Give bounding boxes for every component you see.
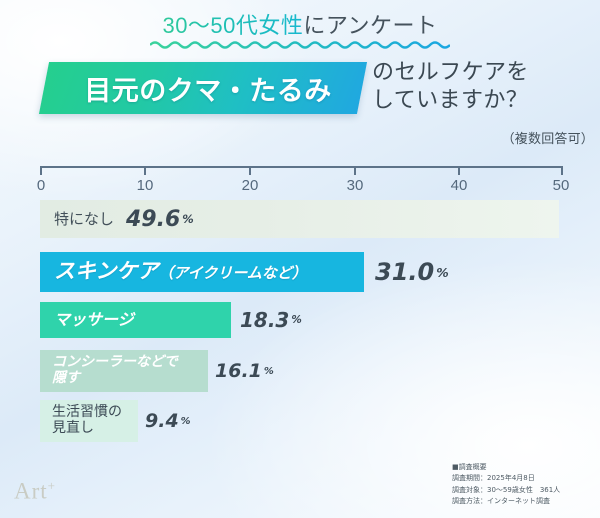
bar-fill: スキンケア（アイクリームなど）	[40, 252, 364, 292]
title-banner-text: 目元のクマ・たるみ	[58, 62, 358, 114]
infographic-canvas: 30〜50代女性にアンケート 目元のクマ・たるみ のセルフケアを していますか？…	[0, 0, 600, 518]
bar-value-number: 49.6	[126, 207, 180, 232]
bar-fill: 生活習慣の 見直し	[40, 400, 138, 442]
bar-row: コンシーラーなどで 隠す 16.1 %	[0, 350, 600, 400]
bar-fill: コンシーラーなどで 隠す	[40, 350, 208, 392]
bar-value: 18.3 %	[240, 302, 302, 338]
percent-sign: %	[181, 416, 191, 427]
note-heading: ■調査概要	[452, 462, 592, 473]
bar-label-main: スキンケア	[54, 259, 158, 283]
axis-tick-label: 40	[451, 177, 468, 194]
percent-sign: %	[436, 265, 449, 280]
note-target: 調査対象：30〜59歳女性 361人	[452, 485, 592, 496]
chart-x-axis: 0 10 20 30 40 50	[0, 166, 600, 196]
axis-tick-label: 30	[347, 177, 364, 194]
brand-logo-plus: +	[48, 478, 56, 493]
axis-tick	[561, 166, 563, 175]
question-line-2: していますか？	[372, 86, 600, 114]
bar-value: 49.6 %	[126, 200, 194, 238]
kicker-highlight: 30〜50代女性	[162, 13, 303, 38]
axis-tick	[249, 166, 251, 175]
bar-label-small: （アイクリームなど）	[158, 264, 307, 282]
bar-value-number: 16.1	[215, 360, 262, 382]
axis-tick	[458, 166, 460, 175]
bar-value: 31.0 %	[375, 252, 449, 292]
bar-row: マッサージ 18.3 %	[0, 302, 600, 350]
bar-value: 16.1 %	[215, 350, 274, 392]
bar-value-number: 9.4	[145, 410, 179, 432]
note-period: 調査期間：2025年4月8日	[452, 473, 592, 484]
wavy-underline-icon	[150, 39, 450, 49]
axis-tick	[354, 166, 356, 175]
axis-line	[40, 166, 563, 168]
bar-label: スキンケア（アイクリームなど）	[40, 260, 307, 284]
axis-tick-label: 20	[242, 177, 259, 194]
bar-fill: マッサージ	[40, 302, 231, 338]
note-method: 調査方法：インターネット調査	[452, 496, 592, 507]
kicker-line: 30〜50代女性にアンケート	[0, 8, 600, 40]
bar-row: 生活習慣の 見直し 9.4 %	[0, 400, 600, 450]
question-line-1: のセルフケアを	[372, 58, 600, 86]
question-text: のセルフケアを していますか？	[372, 58, 600, 114]
axis-tick-label: 10	[137, 177, 154, 194]
bar-chart-rows: 特になし 49.6 % スキンケア（アイクリームなど） 31.0 % マッサージ…	[0, 200, 600, 450]
question-note: （複数回答可）	[372, 128, 594, 147]
brand-logo-text: Art	[14, 479, 48, 504]
survey-overview-note: ■調査概要 調査期間：2025年4月8日 調査対象：30〜59歳女性 361人 …	[452, 462, 592, 507]
bar-value-number: 18.3	[240, 308, 289, 332]
axis-tick	[144, 166, 146, 175]
bar-label: コンシーラーなどで 隠す	[40, 355, 178, 386]
bar-row: スキンケア（アイクリームなど） 31.0 %	[0, 252, 600, 302]
bar-value: 9.4 %	[145, 400, 191, 442]
percent-sign: %	[291, 314, 301, 326]
bar-label: 特になし	[40, 211, 114, 228]
bar-value-number: 31.0	[375, 258, 434, 286]
bar-label: マッサージ	[40, 311, 134, 329]
axis-tick-label: 0	[37, 177, 45, 194]
brand-logo: Art+	[14, 478, 56, 505]
kicker-rest: にアンケート	[303, 13, 437, 38]
percent-sign: %	[182, 212, 193, 226]
percent-sign: %	[264, 366, 274, 377]
bar-row: 特になし 49.6 %	[0, 200, 600, 252]
bar-fill: 特になし	[40, 200, 559, 238]
axis-tick-label: 50	[553, 177, 570, 194]
axis-tick	[40, 166, 42, 175]
bar-label: 生活習慣の 見直し	[40, 405, 122, 436]
